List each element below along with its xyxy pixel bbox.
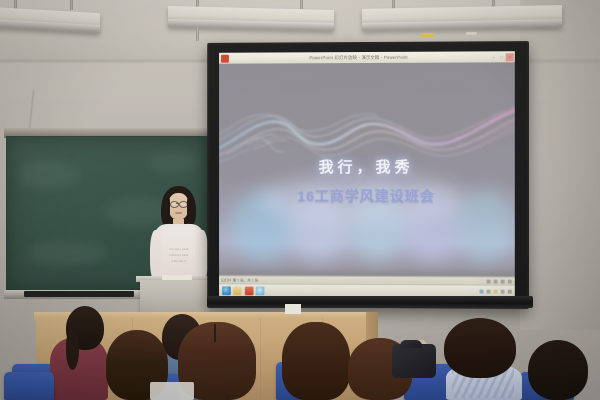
- view-show-icon[interactable]: [508, 280, 512, 284]
- audience-member-1-ponytail: [66, 330, 79, 370]
- light-rod-d: [300, 0, 303, 9]
- chalk-smudge: [19, 161, 79, 189]
- light-rod-b: [70, 0, 73, 10]
- presenter-glasses-bridge: [176, 203, 179, 204]
- black-backpack-on-chair: [392, 344, 436, 378]
- paper-on-lap: [150, 382, 194, 400]
- projector-tag-icon: [420, 33, 434, 37]
- chalk-smudge: [27, 241, 107, 265]
- media-icon[interactable]: [256, 286, 265, 295]
- audience-member-7-head: [444, 318, 516, 378]
- slide-count-label: 幻灯片 第 1 张，共 1 张: [221, 278, 258, 283]
- bag-strap: [400, 340, 422, 348]
- powerpoint-logo-icon: [221, 54, 229, 62]
- window-controls[interactable]: – □ ×: [490, 53, 514, 61]
- battery-icon[interactable]: [494, 290, 498, 294]
- chalk-smudge: [147, 151, 197, 173]
- clock-icon[interactable]: [508, 290, 512, 294]
- lectern-paper: [162, 275, 192, 280]
- classroom-photo: the many small moments make a life that …: [0, 0, 600, 400]
- light-sensor-icon: [466, 32, 477, 35]
- presenter-hair-side-left: [161, 196, 170, 226]
- chalk-tray-insert: [24, 291, 134, 297]
- browser-icon[interactable]: [222, 286, 231, 295]
- chair-front-left: [4, 372, 54, 400]
- close-button[interactable]: ×: [506, 53, 514, 61]
- ceiling-light-right: [362, 5, 562, 31]
- volume-icon[interactable]: [487, 290, 491, 294]
- minimize-button[interactable]: –: [490, 53, 498, 61]
- folder-icon[interactable]: [233, 286, 242, 295]
- view-buttons[interactable]: [487, 280, 512, 284]
- projected-desktop: PowerPoint 幻灯片放映 - 演示文稿 - PowerPoint – □…: [219, 51, 515, 298]
- right-wall: [520, 0, 600, 330]
- presenter-arm-right: [195, 230, 208, 282]
- slide-main-title: 我行，我秀: [219, 156, 515, 177]
- slide-canvas[interactable]: 我行，我秀 16工商学风建设班会: [219, 62, 515, 275]
- projection-screen-bottom-bar: [207, 296, 533, 308]
- presenter-hair-side-right: [187, 196, 196, 226]
- wood-grain: [260, 318, 261, 400]
- window-title: PowerPoint 幻灯片放映 - 演示文稿 - PowerPoint: [229, 54, 490, 61]
- powerpoint-icon[interactable]: [244, 286, 253, 295]
- light-rod-e: [196, 27, 199, 41]
- podium-paper: [285, 304, 301, 314]
- view-reading-icon[interactable]: [501, 280, 505, 284]
- projection-screen: PowerPoint 幻灯片放映 - 演示文稿 - PowerPoint – □…: [207, 41, 529, 309]
- audience-member-4-part: [214, 324, 216, 342]
- ime-icon[interactable]: [501, 290, 505, 294]
- slide-subtitle: 16工商学风建设班会: [219, 186, 515, 206]
- ceiling-light-center: [168, 6, 334, 31]
- system-tray[interactable]: [479, 290, 511, 294]
- maximize-button[interactable]: □: [498, 53, 506, 61]
- audience-member-8-head: [528, 340, 588, 400]
- network-icon[interactable]: [479, 290, 483, 294]
- audience-member-5-head: [282, 322, 350, 400]
- view-sorter-icon[interactable]: [494, 280, 498, 284]
- presenter-arm-left: [150, 230, 163, 282]
- view-normal-icon[interactable]: [487, 280, 491, 284]
